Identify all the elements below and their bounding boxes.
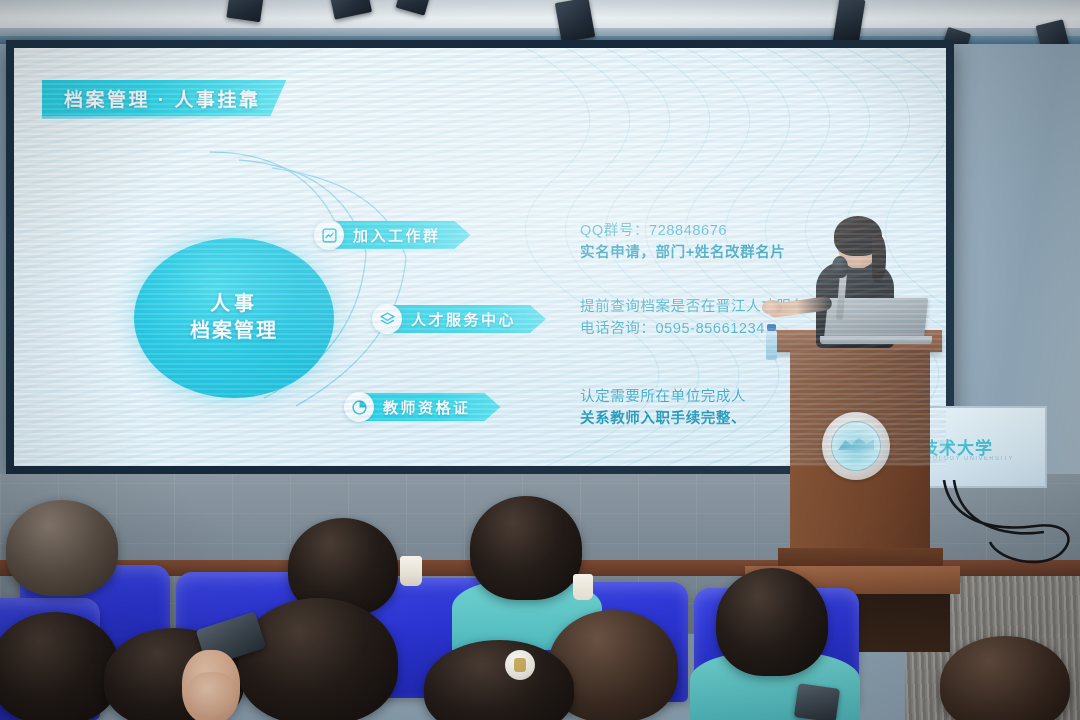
- note-realname: 实名申请，部门+姓名改群名片: [580, 242, 785, 264]
- audience-head: [238, 598, 398, 720]
- paper-cup: [573, 574, 593, 600]
- smartphone: [794, 683, 840, 720]
- university-seal-emblem: [822, 412, 890, 480]
- diagram-node-label: 人才服务中心: [411, 309, 516, 330]
- note-block-cert: 认定需要所在单位完成人 关系教师入职手续完整、: [580, 386, 746, 431]
- diagram-node-label: 教师资格证: [383, 397, 471, 418]
- chart-document-icon: [314, 220, 344, 250]
- audience-head: [6, 500, 118, 596]
- diagram-node-teacher-cert[interactable]: 教师资格证: [344, 392, 501, 422]
- center-node-line2: 档案管理: [190, 318, 278, 345]
- hair-scrunchie: [505, 650, 535, 680]
- center-node: 人事 档案管理: [134, 238, 334, 398]
- paper-cup: [400, 556, 422, 586]
- bottle-cap: [767, 324, 776, 331]
- diagram-node-label-bar: 教师资格证: [361, 393, 501, 421]
- diagram-node-join-group[interactable]: 加入工作群: [314, 220, 471, 250]
- audience-head: [470, 496, 582, 600]
- center-node-line1: 人事: [210, 291, 258, 318]
- layers-stack-icon: [372, 304, 402, 334]
- diagram-node-label: 加入工作群: [353, 225, 441, 246]
- speaker-box: [555, 0, 595, 43]
- emblem-inner: [831, 421, 881, 471]
- microphone-head: [832, 256, 848, 278]
- note-cert-line1: 认定需要所在单位完成人: [580, 386, 746, 408]
- diagram-node-talent-center[interactable]: 人才服务中心: [372, 304, 546, 334]
- presenter-hand: [762, 300, 782, 315]
- water-bottle: [766, 330, 777, 360]
- diagram-node-label-bar: 人才服务中心: [389, 305, 546, 333]
- auditorium-photo: 档案管理 · 人事挂靠 人事 档案管理: [0, 0, 1080, 720]
- diagram-node-label-bar: 加入工作群: [331, 221, 471, 249]
- floor-cables: [940, 480, 1080, 590]
- pie-chart-icon: [344, 392, 374, 422]
- audience-hand: [186, 672, 238, 720]
- laptop-keyboard: [820, 336, 932, 344]
- presenter-glasses: [840, 240, 876, 249]
- note-cert-line2: 关系教师入职手续完整、: [580, 408, 746, 430]
- audience-head: [716, 568, 828, 676]
- note-qq-group: QQ群号：728848676: [580, 220, 785, 242]
- note-block-group: QQ群号：728848676 实名申请，部门+姓名改群名片: [580, 220, 785, 265]
